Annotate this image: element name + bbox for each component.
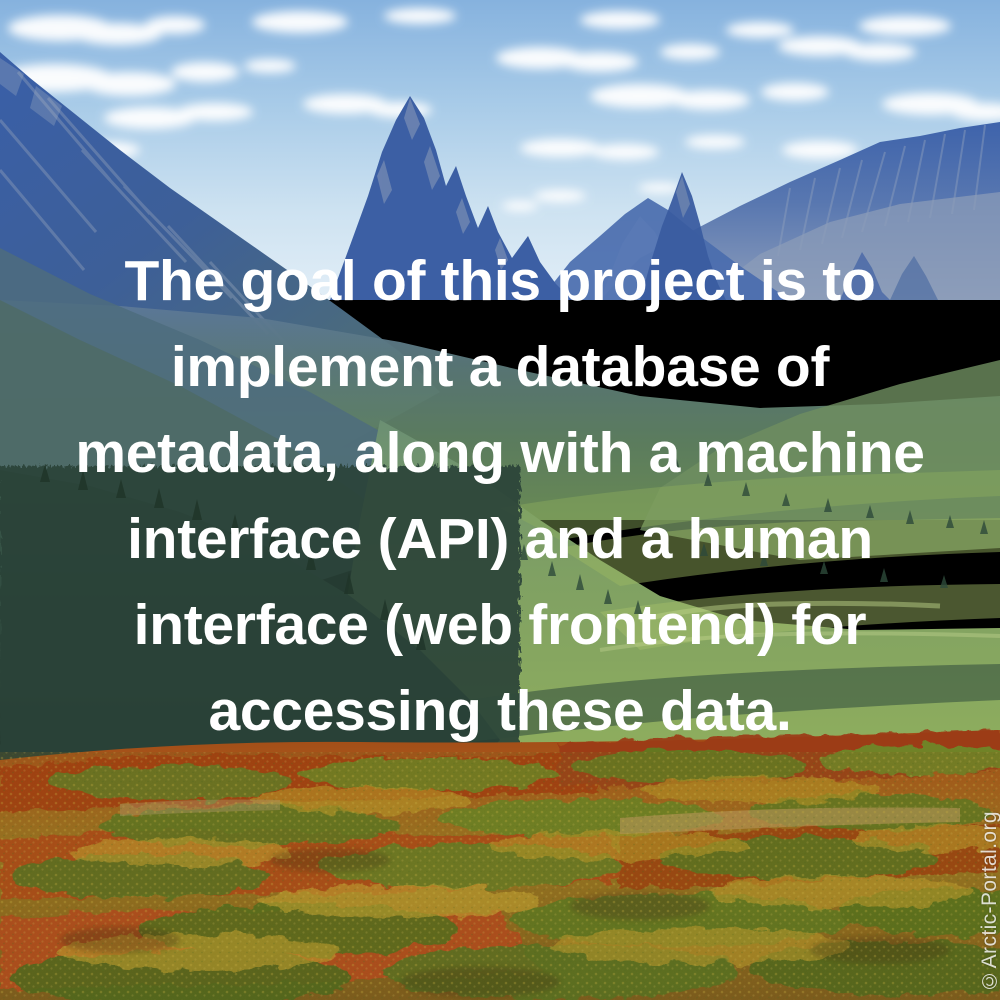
photo-with-caption: The goal of this project is to implement… <box>0 0 1000 1000</box>
landscape-photo <box>0 0 1000 1000</box>
tundra-foreground <box>0 730 1000 1000</box>
